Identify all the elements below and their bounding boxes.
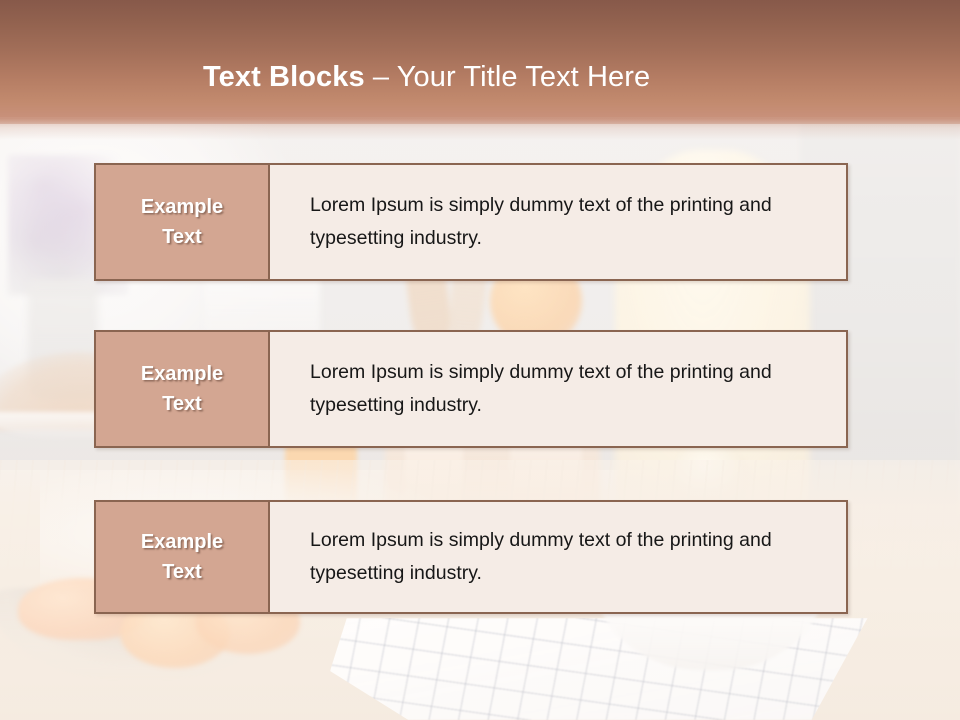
text-block-label-line-1: Example — [141, 192, 223, 222]
page-title: Text Blocks – Your Title Text Here — [203, 57, 650, 97]
page-title-bold-part: Text Blocks — [203, 61, 365, 93]
text-block-label-cell[interactable]: Example Text — [96, 502, 270, 612]
text-block[interactable]: Example Text Lorem Ipsum is simply dummy… — [94, 163, 848, 281]
text-block-body-text: Lorem Ipsum is simply dummy text of the … — [310, 356, 810, 422]
text-block-body-cell[interactable]: Lorem Ipsum is simply dummy text of the … — [270, 165, 846, 279]
text-block-label-line-1: Example — [141, 527, 223, 557]
slide-header-fade — [0, 118, 960, 140]
text-block-label-cell[interactable]: Example Text — [96, 165, 270, 279]
text-block-body-text: Lorem Ipsum is simply dummy text of the … — [310, 189, 810, 255]
text-block[interactable]: Example Text Lorem Ipsum is simply dummy… — [94, 330, 848, 448]
text-block-label-line-2: Text — [162, 222, 202, 252]
text-block-body-cell[interactable]: Lorem Ipsum is simply dummy text of the … — [270, 502, 846, 612]
text-block-body-text: Lorem Ipsum is simply dummy text of the … — [310, 524, 810, 590]
text-block-label-line-1: Example — [141, 359, 223, 389]
slide-canvas: Text Blocks – Your Title Text Here Examp… — [0, 0, 960, 720]
text-block-label-cell[interactable]: Example Text — [96, 332, 270, 446]
text-block[interactable]: Example Text Lorem Ipsum is simply dummy… — [94, 500, 848, 614]
text-block-label-line-2: Text — [162, 389, 202, 419]
text-block-label-line-2: Text — [162, 557, 202, 587]
text-block-body-cell[interactable]: Lorem Ipsum is simply dummy text of the … — [270, 332, 846, 446]
page-title-separator: – — [365, 61, 397, 93]
page-title-regular-part: Your Title Text Here — [397, 61, 650, 93]
